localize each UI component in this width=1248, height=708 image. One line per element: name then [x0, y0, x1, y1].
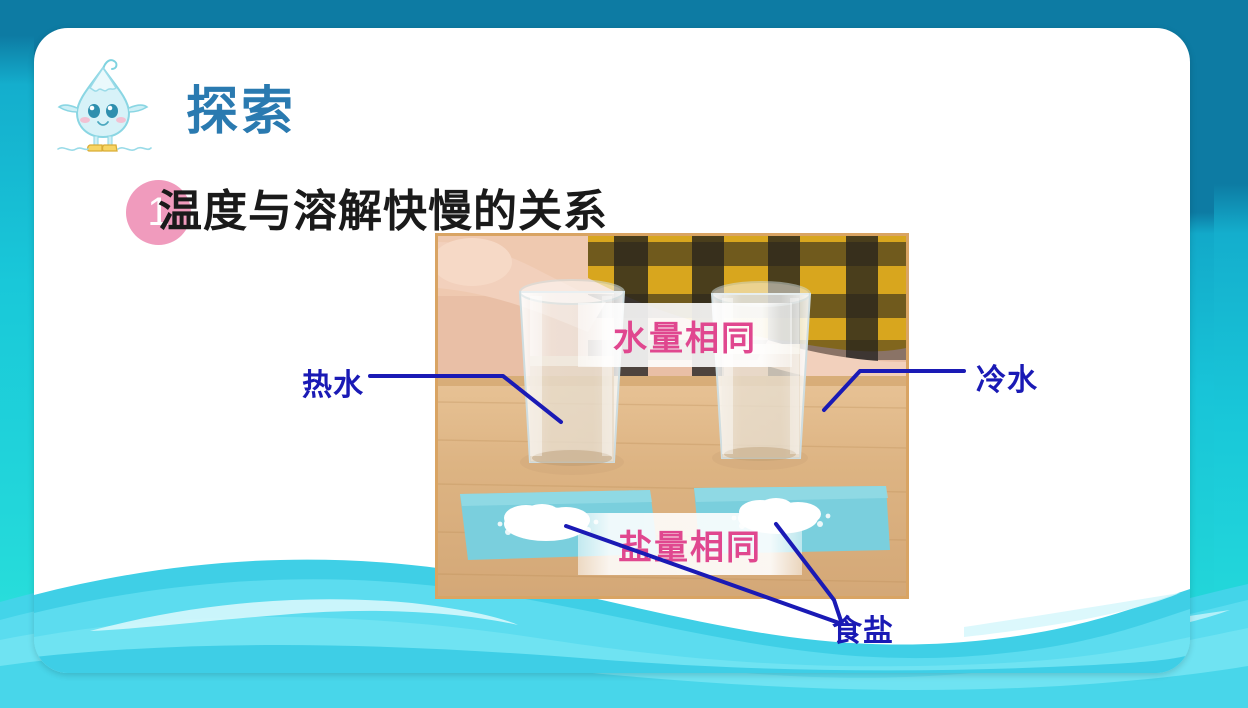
- overlay-band-water-label: 水量相同: [613, 311, 757, 360]
- callout-label-table-salt: 食盐: [832, 606, 894, 650]
- callout-label-cold-water: 冷水: [976, 355, 1038, 399]
- callout-label-hot-water: 热水: [302, 360, 364, 404]
- page-title: 探索: [186, 86, 296, 138]
- overlay-band-salt: 盐量相同: [578, 513, 802, 575]
- overlay-band-salt-label: 盐量相同: [618, 520, 762, 569]
- content-card: 探索 1 温度与溶解快慢的关系: [34, 28, 1190, 673]
- water-droplet-mascot-icon: [50, 50, 156, 158]
- experiment-photo: 水量相同 盐量相同: [435, 233, 909, 599]
- overlay-band-water: 水量相同: [578, 303, 792, 367]
